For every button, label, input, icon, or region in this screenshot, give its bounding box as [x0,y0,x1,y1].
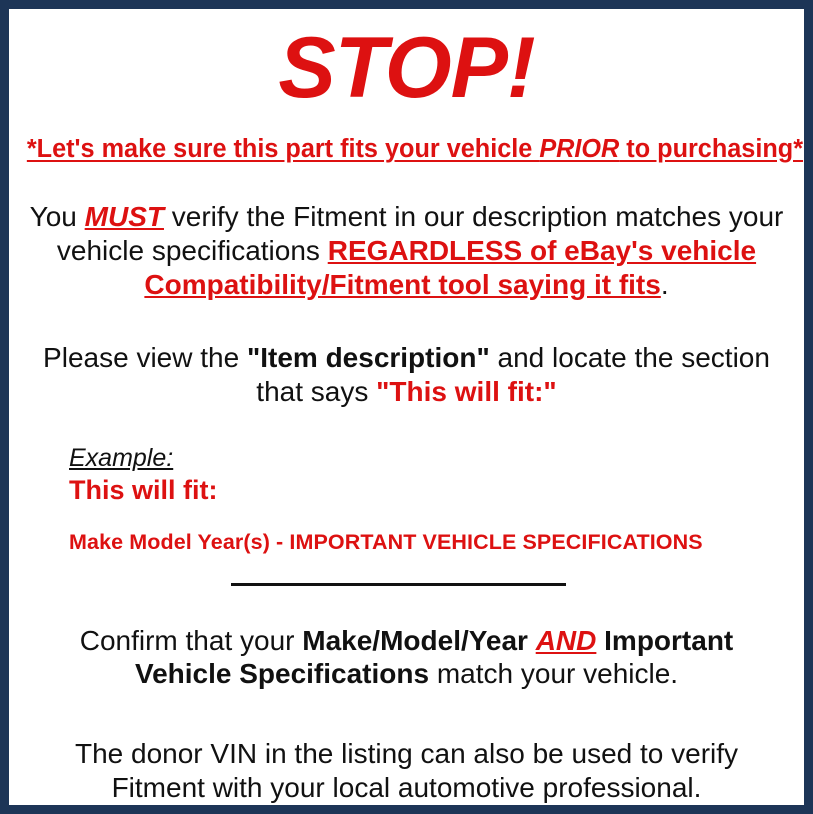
subtitle-line: *Let's make sure this part fits your veh… [27,135,786,164]
emphasis-and: AND [536,625,597,656]
confirm-text-1: Confirm that your [80,625,303,656]
example-block: Example: This will fit: Make Model Year(… [23,444,790,555]
emphasis-must: MUST [85,201,164,232]
example-label: Example: [69,444,173,473]
divider-wrap [23,578,790,592]
must-text-3: . [661,269,669,300]
paragraph-must-verify: You MUST verify the Fitment in our descr… [23,200,790,301]
paragraph-item-description: Please view the "Item description" and l… [23,341,790,408]
subtitle-text-after: to purchasing* [619,135,803,163]
horizontal-divider [231,583,566,586]
fitment-notice-panel: STOP! *Let's make sure this part fits yo… [0,0,813,814]
confirm-space-1 [528,625,536,656]
example-spec-line: Make Model Year(s) - IMPORTANT VEHICLE S… [69,530,790,555]
confirm-text-2: match your vehicle. [429,658,678,689]
confirm-space-2 [596,625,604,656]
view-text-1: Please view the [43,342,247,373]
example-label-row: Example: [69,444,790,473]
example-fit-heading: This will fit: [69,475,790,506]
stop-title: STOP! [23,25,790,111]
emphasis-this-will-fit: "This will fit:" [376,376,557,407]
emphasis-make-model-year: Make/Model/Year [302,625,528,656]
subtitle-text-before: *Let's make sure this part fits your veh… [27,135,539,163]
paragraph-donor-vin: The donor VIN in the listing can also be… [23,737,790,804]
emphasis-item-description: "Item description" [247,342,490,373]
paragraph-confirm: Confirm that your Make/Model/Year AND Im… [23,624,790,691]
subtitle-emphasis-prior: PRIOR [539,135,619,163]
must-text-1: You [30,201,85,232]
